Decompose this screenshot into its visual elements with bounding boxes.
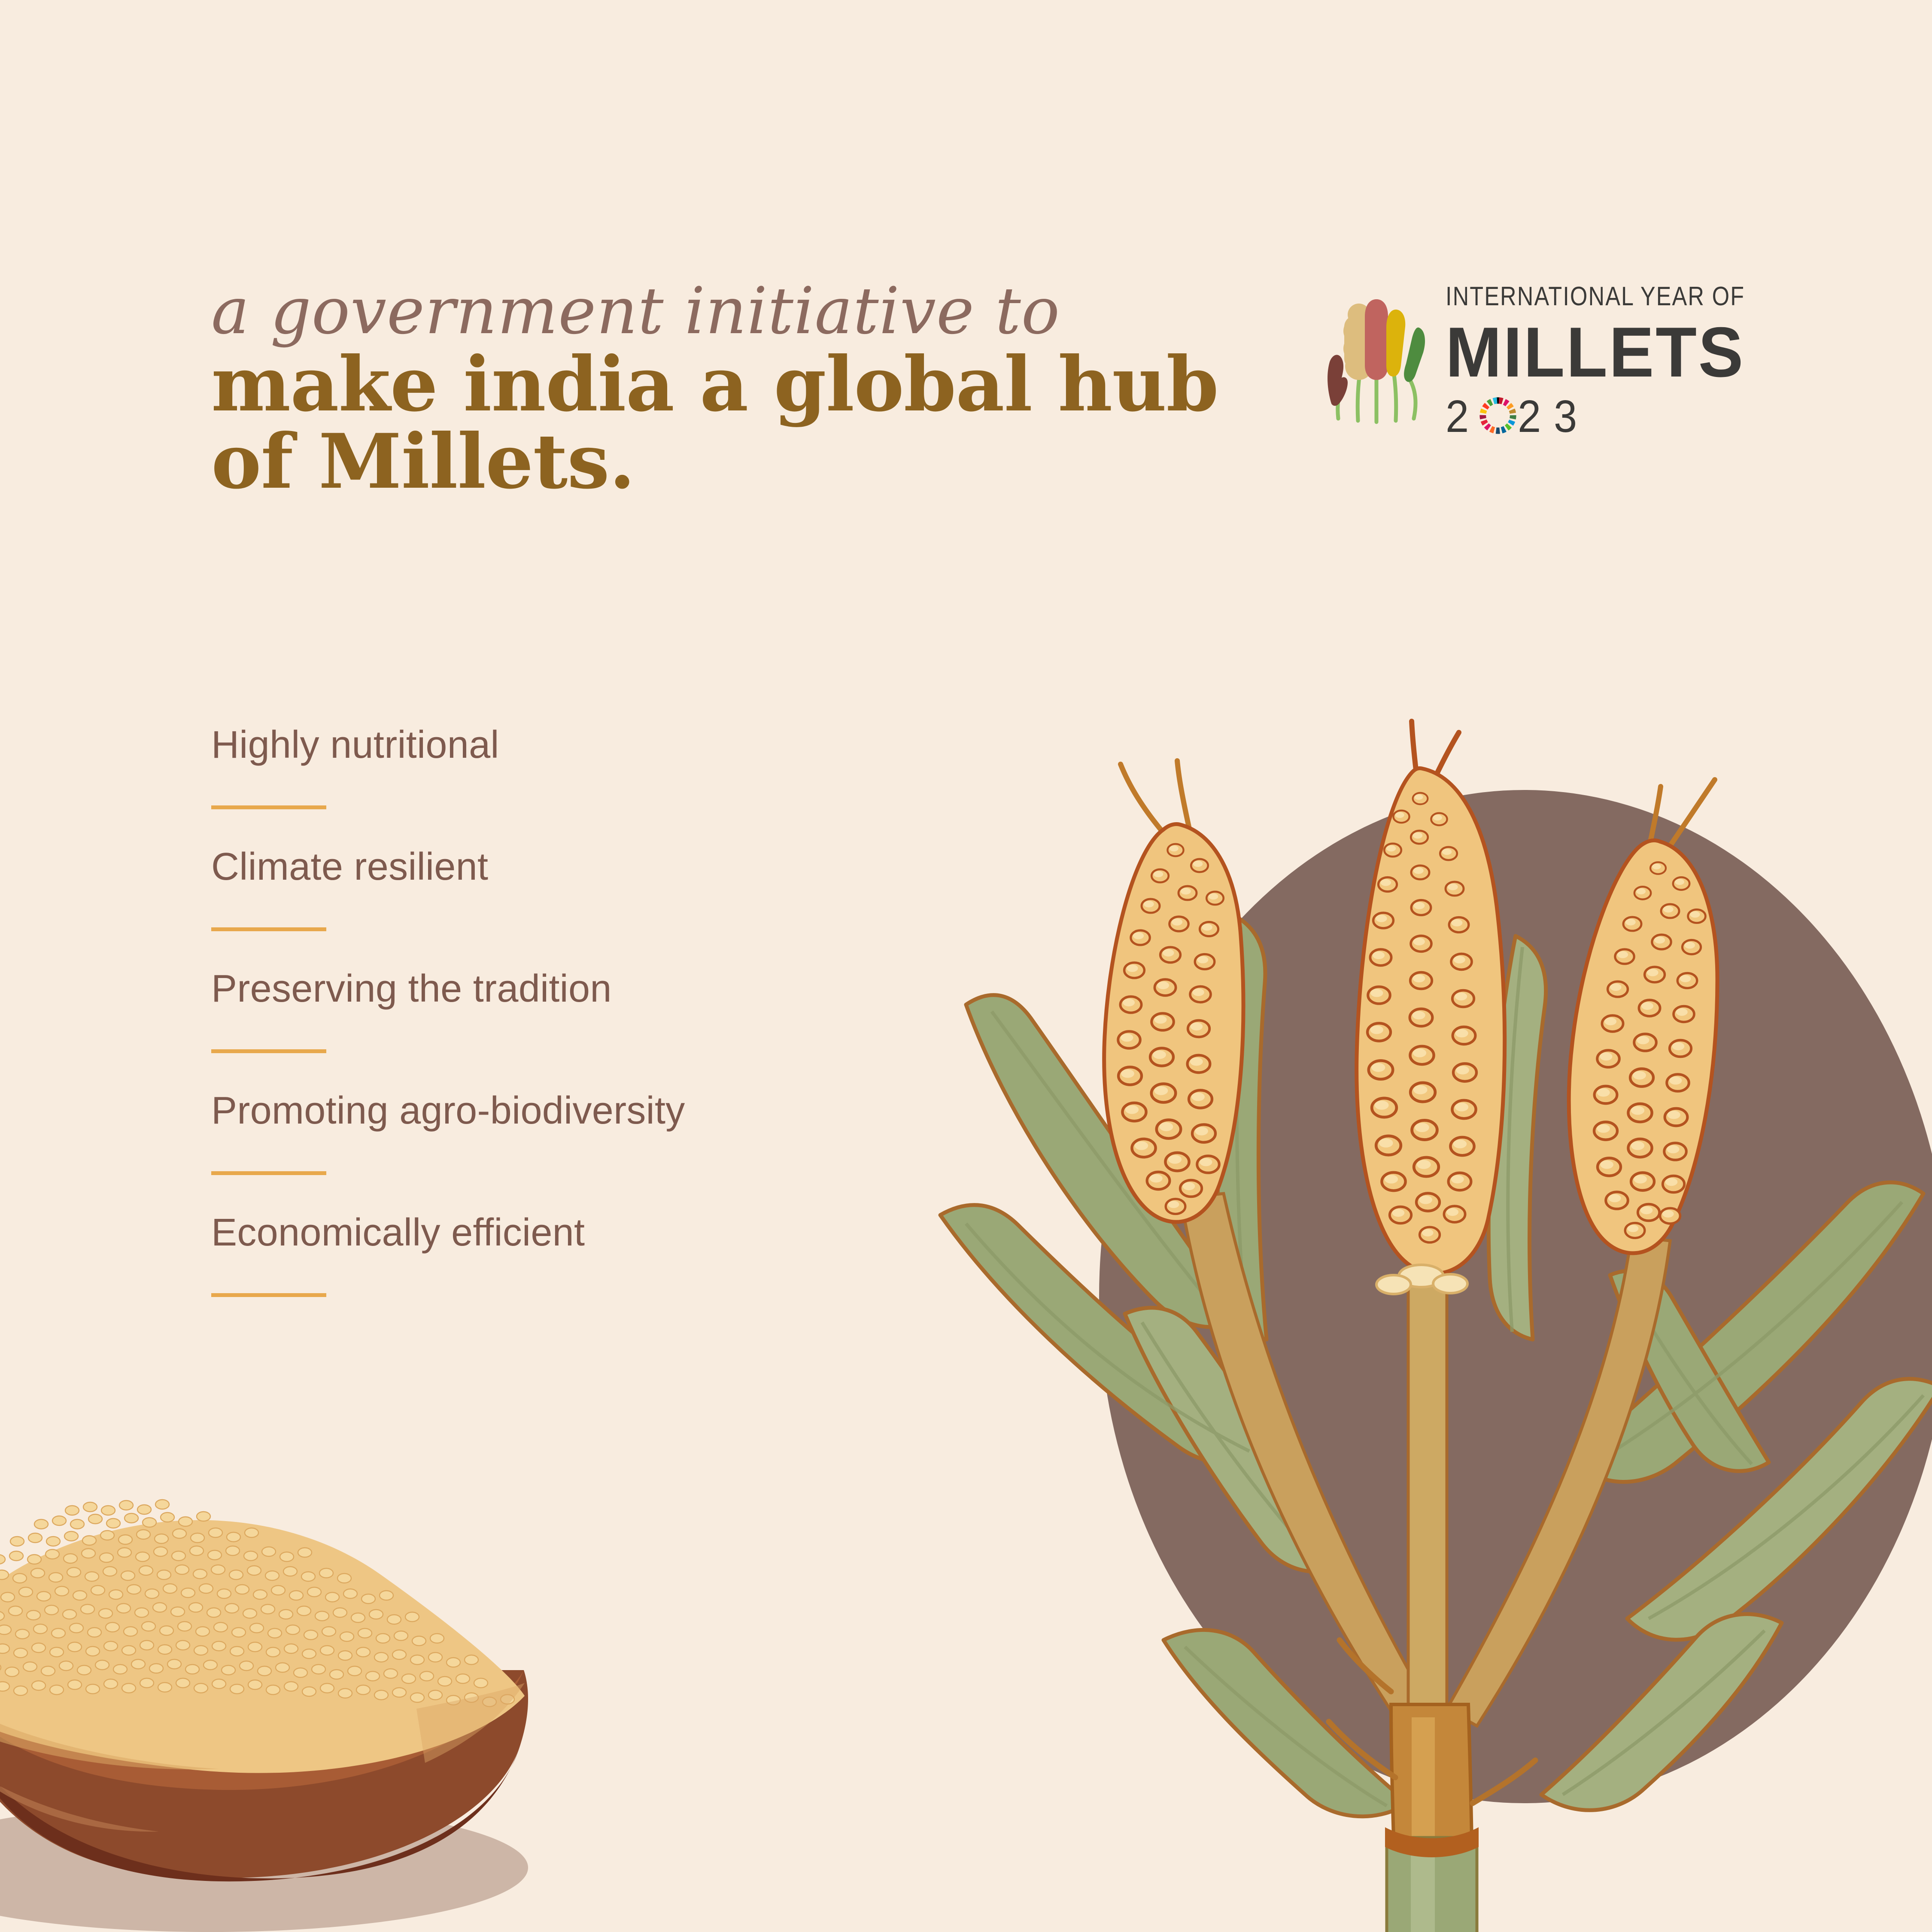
feature-divider (211, 927, 326, 931)
sdg-color-wheel-icon (1478, 396, 1518, 435)
millet-stalks-icon (1320, 290, 1436, 423)
feature-divider (211, 805, 326, 809)
logo-year-digit-3: 3 (1554, 394, 1577, 439)
iym-2023-logo: INTERNATIONAL YEAR OF MILLETS 2 (1320, 281, 1878, 431)
bowl-of-millet-grains-illustration (0, 1468, 691, 1932)
headline-bold-line-1: make india a global hub (211, 346, 1220, 423)
feature-divider (211, 1049, 326, 1053)
logo-year: 2 (1446, 394, 1587, 445)
feature-divider (211, 1171, 326, 1175)
headline-script-line: a government initiative to (211, 279, 1210, 343)
headline-block: a government initiative to make india a … (211, 279, 1220, 501)
poster-canvas: a government initiative to make india a … (0, 0, 1932, 1932)
millet-plant-illustration (940, 704, 1932, 1932)
logo-year-digit-1: 2 (1446, 394, 1469, 439)
headline-bold-block: make india a global hub of Millets. (211, 346, 1220, 501)
logo-tagline: INTERNATIONAL YEAR OF (1446, 281, 1806, 312)
logo-wordmark: MILLETS (1446, 317, 1853, 388)
logo-year-digit-2: 2 (1518, 394, 1541, 439)
feature-divider (211, 1293, 326, 1297)
headline-bold-line-2: of Millets. (211, 423, 1220, 501)
logo-text-block: INTERNATIONAL YEAR OF MILLETS 2 (1446, 281, 1875, 445)
